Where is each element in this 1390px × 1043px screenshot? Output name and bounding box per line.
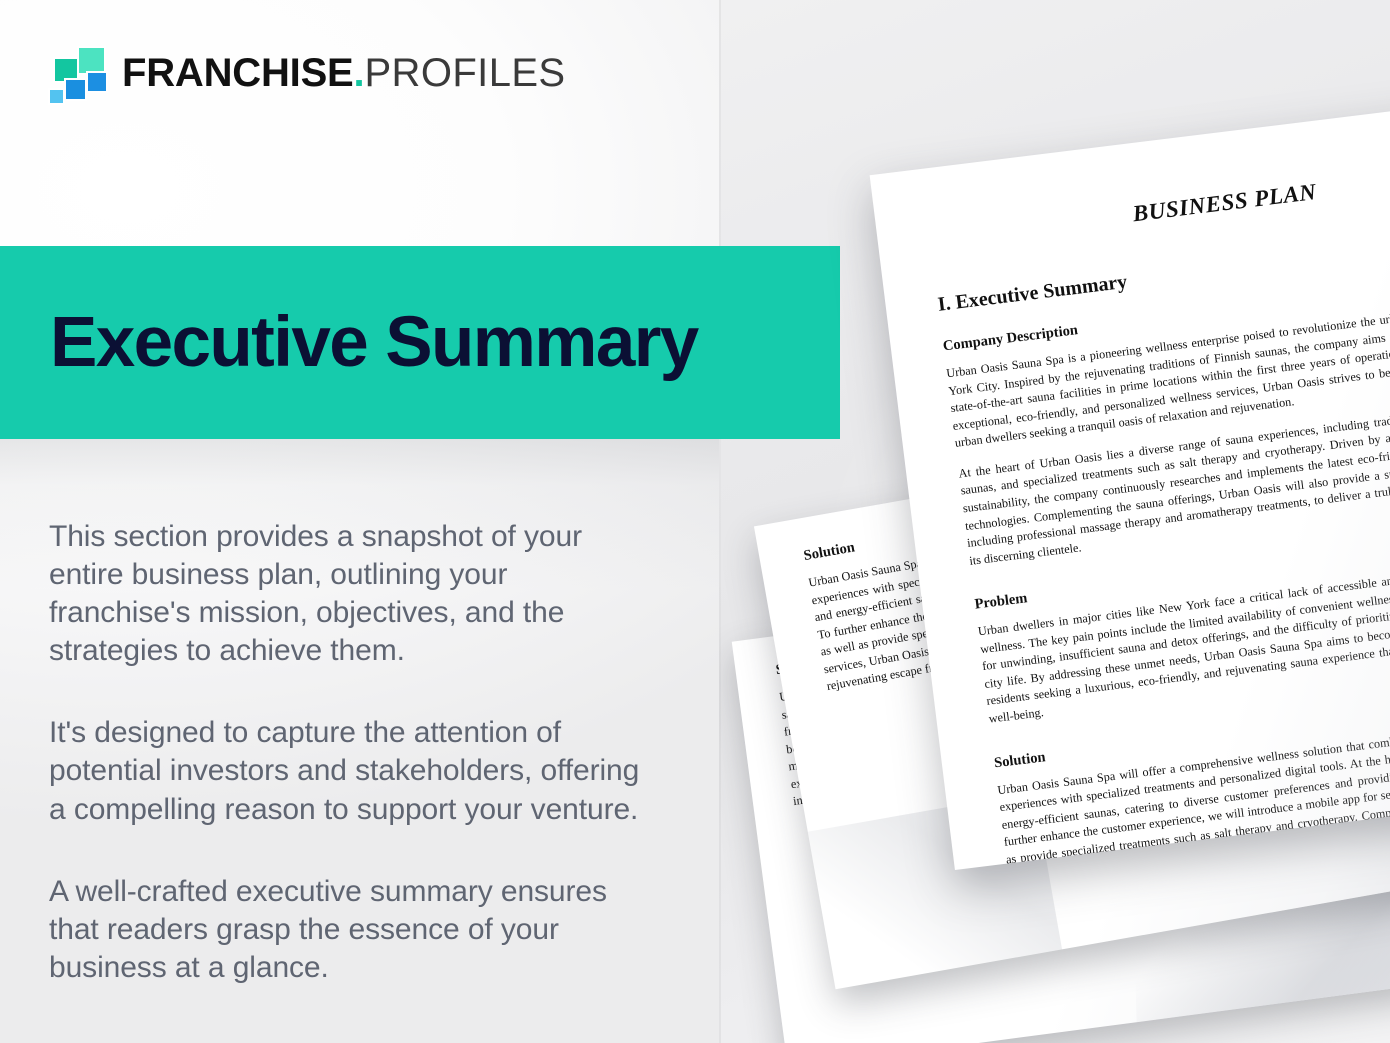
business-plan-document-stack: Solution Urban Oasis Sauna Spa will offe…: [719, 0, 1390, 1043]
brand-logo[interactable]: FRANCHISE.PROFILES: [46, 42, 566, 104]
logo-square-blue-small: [86, 71, 108, 93]
page-title: Executive Summary: [0, 307, 698, 378]
logo-square-lightblue: [48, 88, 65, 105]
brand-name-bold: FRANCHISE: [122, 51, 354, 95]
body-copy: This section provides a snapshot of your…: [49, 518, 649, 987]
body-paragraph-2: It's designed to capture the attention o…: [49, 714, 649, 828]
logo-square-blue: [64, 78, 87, 101]
document-page-front: BUSINESS PLAN I. Executive Summary Compa…: [870, 90, 1390, 870]
slide-canvas: FRANCHISE.PROFILES Executive Summary Thi…: [0, 0, 1390, 1043]
brand-name-light: PROFILES: [364, 51, 565, 95]
brand-wordmark: FRANCHISE.PROFILES: [122, 53, 566, 93]
title-banner: Executive Summary: [0, 246, 840, 439]
franchise-profiles-logo-icon: [46, 44, 108, 102]
document-title: BUSINESS PLAN: [928, 154, 1390, 252]
body-paragraph-1: This section provides a snapshot of your…: [49, 518, 649, 670]
brand-name-dot: .: [354, 51, 365, 95]
body-paragraph-3: A well-crafted executive summary ensures…: [49, 873, 649, 987]
